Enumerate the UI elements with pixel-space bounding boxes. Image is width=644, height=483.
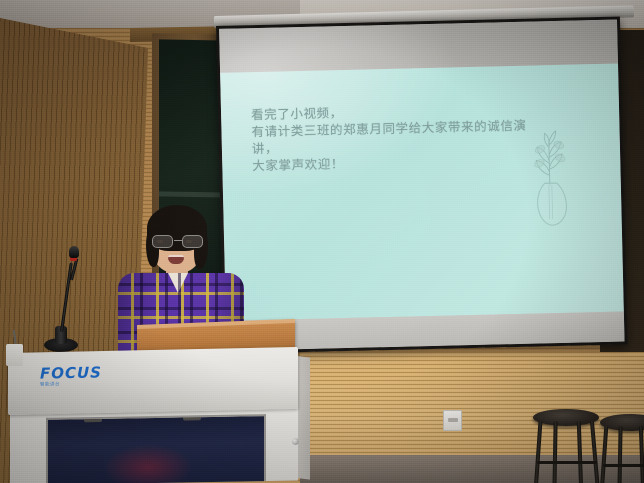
smart-lectern[interactable]: FOCUS 智能讲台 [8,350,310,483]
glasses-bridge [174,240,182,241]
wall-outlet-plate[interactable] [443,410,462,431]
stool-leg [617,426,622,483]
lectern-monitor-screen[interactable] [46,414,266,483]
microphone-icon [69,246,79,258]
monitor-content-glow [103,443,193,483]
hair-right [194,227,208,269]
white-bottle [6,344,23,366]
monitor-clip-left [84,418,102,422]
stool-seat [533,409,599,426]
lens-right [182,235,203,248]
stool-leg [552,421,557,483]
brand-name: FOCUS [40,363,102,382]
stool-leg [639,426,644,483]
projected-slide: 看完了小视频， 有请计类三班的郑惠月同学给大家带来的诚信演讲， 大家掌声欢迎！ [220,64,624,321]
photo-scene: 看完了小视频， 有请计类三班的郑惠月同学给大家带来的诚信演讲， 大家掌声欢迎！ [0,0,644,483]
plant-illustration-icon [513,122,586,234]
lens-left [152,235,173,248]
stool-rung [537,461,597,464]
stool-leg [590,421,600,483]
outlet-slot [448,418,458,422]
stool-leg [600,426,609,483]
focus-brand-logo: FOCUS 智能讲台 [40,363,102,387]
stool-leg [577,421,583,483]
stool-rung [603,464,644,467]
stool-leg [534,421,543,483]
lectern-lock-knob[interactable] [292,438,299,445]
projector-screen[interactable]: 看完了小视频， 有请计类三班的郑惠月同学给大家带来的诚信演讲， 大家掌声欢迎！ [216,16,628,353]
slide-body-text: 看完了小视频， 有请计类三班的郑惠月同学给大家带来的诚信演讲， 大家掌声欢迎！ [251,99,553,174]
stool-right [600,414,644,483]
stool-left [533,409,599,483]
screen-surface: 看完了小视频， 有请计类三班的郑惠月同学给大家带来的诚信演讲， 大家掌声欢迎！ [219,20,624,351]
monitor-clip-right [183,416,201,420]
glasses-icon [151,235,204,248]
